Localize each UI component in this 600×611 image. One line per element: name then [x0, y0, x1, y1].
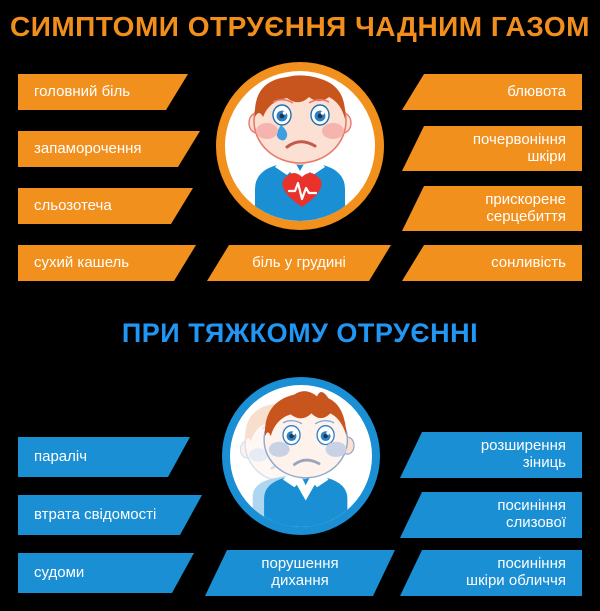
symptom-label-rapid-heartbeat-line1: прискорене	[485, 191, 566, 208]
double-vision-svg	[230, 385, 372, 527]
symptom-label-rapid-heartbeat[interactable]: прискорене серцебиття	[402, 186, 582, 231]
symptom-label-chest-pain[interactable]: біль у грудині	[207, 245, 391, 281]
illustration-boy-double-vision	[222, 377, 380, 535]
symptom-label-skin-redness-text: почервоніння шкіри	[436, 132, 566, 166]
severe-label-breathing-disorder-line1: порушення	[261, 555, 338, 572]
symptom-label-vomiting-text: блювота	[436, 84, 566, 101]
severe-label-face-skin-cyanosis-line2: шкіри обличчя	[466, 572, 566, 589]
symptom-label-rapid-heartbeat-text: прискорене серцебиття	[436, 192, 566, 226]
symptom-label-headache[interactable]: головний біль	[18, 74, 188, 110]
symptom-label-skin-redness[interactable]: почервоніння шкіри	[402, 126, 582, 171]
severe-label-dilated-pupils-line2: зіниць	[523, 454, 566, 471]
severe-label-mucosa-cyanosis-line1: посиніння	[497, 497, 566, 514]
severe-label-loss-of-consciousness[interactable]: втрата свідомості	[18, 495, 202, 535]
severe-label-mucosa-cyanosis-line2: слизової	[506, 514, 566, 531]
symptom-label-lacrimation[interactable]: сльозотеча	[18, 188, 193, 224]
symptom-label-skin-redness-line2: шкіри	[527, 148, 566, 165]
symptom-label-chest-pain-text: біль у грудині	[233, 255, 365, 272]
illustration-sad-boy-with-heart	[216, 62, 384, 230]
symptom-label-vomiting[interactable]: блювота	[402, 74, 582, 110]
symptom-label-drowsiness[interactable]: сонливість	[402, 245, 582, 281]
severe-label-loss-of-consciousness-text: втрата свідомості	[34, 507, 168, 524]
severe-label-convulsions-text: судоми	[34, 565, 160, 582]
infographic-root: СИМПТОМИ ОТРУЄННЯ ЧАДНИМ ГАЗОМ головний …	[0, 0, 600, 611]
symptom-label-rapid-heartbeat-line2: серцебиття	[486, 208, 566, 225]
severe-label-breathing-disorder[interactable]: порушення дихання	[205, 550, 395, 596]
symptom-label-headache-text: головний біль	[34, 84, 154, 101]
symptom-label-dry-cough-text: сухий кашель	[34, 255, 162, 272]
severe-label-dilated-pupils-text: розширення зіниць	[434, 438, 566, 472]
severe-label-face-skin-cyanosis[interactable]: посиніння шкіри обличчя	[400, 550, 582, 596]
symptom-label-drowsiness-text: сонливість	[436, 255, 566, 272]
severe-label-breathing-disorder-line2: дихання	[271, 572, 329, 589]
symptom-label-dry-cough[interactable]: сухий кашель	[18, 245, 196, 281]
severe-label-dilated-pupils[interactable]: розширення зіниць	[400, 432, 582, 478]
severe-label-dilated-pupils-line1: розширення	[481, 437, 566, 454]
severe-label-paralysis[interactable]: параліч	[18, 437, 190, 477]
symptom-label-lacrimation-text: сльозотеча	[34, 198, 159, 215]
section-heading-poisoning-symptoms: СИМПТОМИ ОТРУЄННЯ ЧАДНИМ ГАЗОМ	[0, 11, 600, 43]
symptom-label-skin-redness-line1: почервоніння	[473, 131, 566, 148]
severe-label-mucosa-cyanosis-text: посиніння слизової	[434, 498, 566, 532]
section-heading-severe-poisoning: ПРИ ТЯЖКОМУ ОТРУЄННІ	[0, 318, 600, 349]
sad-boy-svg	[225, 71, 375, 221]
severe-label-breathing-disorder-text: порушення дихання	[231, 556, 369, 590]
severe-label-convulsions[interactable]: судоми	[18, 553, 194, 593]
severe-label-face-skin-cyanosis-text: посиніння шкіри обличчя	[434, 556, 566, 590]
symptom-label-dizziness-text: запаморочення	[34, 141, 166, 158]
severe-label-mucosa-cyanosis[interactable]: посиніння слизової	[400, 492, 582, 538]
severe-label-paralysis-text: параліч	[34, 449, 156, 466]
severe-label-face-skin-cyanosis-line1: посиніння	[497, 555, 566, 572]
symptom-label-dizziness[interactable]: запаморочення	[18, 131, 200, 167]
